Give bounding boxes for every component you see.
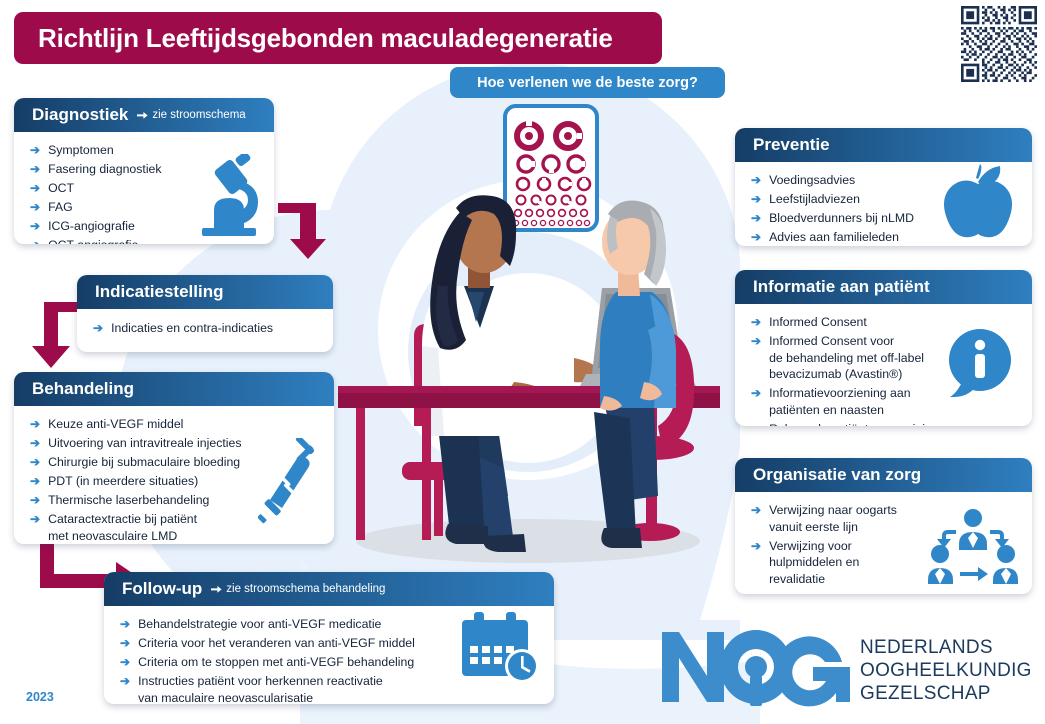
- card-preventie-title: Preventie: [753, 135, 830, 155]
- card-behandeling-title: Behandeling: [32, 379, 134, 399]
- list-item[interactable]: ➔Keuze anti-VEGF middel: [30, 416, 322, 433]
- card-diagnostiek-header: Diagnostiek zie stroomschema: [14, 98, 274, 132]
- arrow-bullet-icon: ➔: [30, 142, 40, 159]
- page-title-banner: Richtlijn Leeftijdsgebonden maculadegene…: [14, 12, 662, 64]
- arrow-bullet-icon: ➔: [751, 172, 761, 189]
- card-preventie-header: Preventie: [735, 128, 1032, 162]
- card-indicatiestelling[interactable]: Indicatiestelling ➔Indicaties en contra-…: [77, 275, 333, 352]
- arrow-right-icon: [211, 585, 222, 594]
- arrow-bullet-icon: ➔: [30, 511, 40, 528]
- card-preventie[interactable]: Preventie ➔Voedingsadvies ➔Leefstijladvi…: [735, 128, 1032, 246]
- consultation-table: [338, 386, 720, 540]
- arrow-bullet-icon: ➔: [120, 635, 130, 652]
- card-followup-body: ➔Behandelstrategie voor anti-VEGF medica…: [104, 606, 554, 704]
- calendar-clock-icon: [462, 608, 540, 684]
- card-behandeling[interactable]: Behandeling ➔Keuze anti-VEGF middel ➔Uit…: [14, 372, 334, 544]
- nog-logo-wordmark: NEDERLANDS OOGHEELKUNDIG GEZELSCHAP: [860, 636, 1032, 705]
- card-followup-note: zie stroomschema behandeling: [211, 583, 385, 595]
- card-behandeling-body: ➔Keuze anti-VEGF middel ➔Uitvoering van …: [14, 406, 334, 544]
- arrow-bullet-icon: ➔: [30, 435, 40, 452]
- card-organisatie-van-zorg[interactable]: Organisatie van zorg ➔Verwijzing naar oo…: [735, 458, 1032, 594]
- subtitle-banner: Hoe verlenen we de beste zorg?: [450, 67, 725, 98]
- qr-code[interactable]: [961, 6, 1037, 82]
- card-followup[interactable]: Follow-up zie stroomschema behandeling ➔…: [104, 572, 554, 704]
- card-diagnostiek-note: zie stroomschema: [137, 109, 245, 121]
- card-preventie-body: ➔Voedingsadvies ➔Leefstijladviezen ➔Bloe…: [735, 162, 1032, 246]
- card-diagnostiek-title: Diagnostiek: [32, 105, 128, 125]
- arrow-bullet-icon: ➔: [30, 492, 40, 509]
- card-informatie-header: Informatie aan patiënt: [735, 270, 1032, 304]
- arrow-bullet-icon: ➔: [30, 473, 40, 490]
- arrow-right-icon: [137, 111, 148, 120]
- card-informatie-title: Informatie aan patiënt: [753, 277, 930, 297]
- list-item[interactable]: ➔Rol van de patiëntenvereniging: [751, 421, 1020, 427]
- arrow-bullet-icon: ➔: [30, 454, 40, 471]
- card-behandeling-header: Behandeling: [14, 372, 334, 406]
- arrow-bullet-icon: ➔: [751, 333, 761, 350]
- consultation-illustration: [318, 96, 738, 616]
- card-diagnostiek[interactable]: Diagnostiek zie stroomschema ➔Symptomen …: [14, 98, 274, 244]
- landolt-c-eye-chart: [505, 106, 597, 230]
- arrow-bullet-icon: ➔: [751, 229, 761, 246]
- list-item[interactable]: ➔Indicaties en contra-indicaties: [93, 320, 321, 337]
- arrow-bullet-icon: ➔: [751, 210, 761, 227]
- card-followup-title: Follow-up: [122, 579, 202, 599]
- logo-line-2: OOGHEELKUNDIG: [860, 659, 1032, 682]
- arrow-bullet-icon: ➔: [751, 385, 761, 402]
- logo-line-3: GEZELSCHAP: [860, 682, 1032, 705]
- apple-icon: [942, 162, 1014, 238]
- syringe-icon: [258, 438, 320, 534]
- card-followup-header: Follow-up zie stroomschema behandeling: [104, 572, 554, 606]
- microscope-icon: [196, 154, 268, 240]
- page-title: Richtlijn Leeftijdsgebonden maculadegene…: [38, 23, 613, 54]
- card-organisatie-title: Organisatie van zorg: [753, 465, 921, 485]
- card-organisatie-header: Organisatie van zorg: [735, 458, 1032, 492]
- logo-line-1: NEDERLANDS: [860, 636, 1032, 659]
- nog-logo-mark: [660, 626, 856, 708]
- card-informatie-aan-patient[interactable]: Informatie aan patiënt ➔Informed Consent…: [735, 270, 1032, 426]
- card-informatie-body: ➔Informed Consent ➔Informed Consent voor…: [735, 304, 1032, 426]
- arrow-bullet-icon: ➔: [30, 199, 40, 216]
- subtitle-text: Hoe verlenen we de beste zorg?: [477, 75, 698, 91]
- arrow-bullet-icon: ➔: [30, 161, 40, 178]
- arrow-bullet-icon: ➔: [30, 416, 40, 433]
- info-bubble-icon: [946, 328, 1018, 398]
- arrow-bullet-icon: ➔: [751, 538, 761, 555]
- arrow-bullet-icon: ➔: [120, 616, 130, 633]
- card-organisatie-body: ➔Verwijzing naar oogarts vanuit eerste l…: [735, 492, 1032, 594]
- arrow-bullet-icon: ➔: [30, 180, 40, 197]
- arrow-bullet-icon: ➔: [751, 502, 761, 519]
- card-indicatiestelling-header: Indicatiestelling: [77, 275, 333, 309]
- arrow-bullet-icon: ➔: [751, 421, 761, 427]
- card-indicatiestelling-list: ➔Indicaties en contra-indicaties: [93, 320, 321, 337]
- arrow-bullet-icon: ➔: [120, 673, 130, 690]
- card-indicatiestelling-title: Indicatiestelling: [95, 282, 223, 302]
- year-label: 2023: [26, 690, 54, 704]
- arrow-bullet-icon: ➔: [30, 218, 40, 235]
- referral-network-icon: [928, 506, 1018, 584]
- arrow-bullet-icon: ➔: [751, 191, 761, 208]
- arrow-bullet-icon: ➔: [751, 314, 761, 331]
- card-diagnostiek-body: ➔Symptomen ➔Fasering diagnostiek ➔OCT ➔F…: [14, 132, 274, 244]
- card-indicatiestelling-body: ➔Indicaties en contra-indicaties: [77, 309, 333, 352]
- patient-figure: [594, 201, 694, 549]
- arrow-bullet-icon: ➔: [30, 237, 40, 244]
- connector-diagnostiek-to-indicatiestelling: [278, 195, 338, 265]
- doctor-figure: [402, 195, 602, 552]
- arrow-bullet-icon: ➔: [93, 320, 103, 337]
- arrow-bullet-icon: ➔: [120, 654, 130, 671]
